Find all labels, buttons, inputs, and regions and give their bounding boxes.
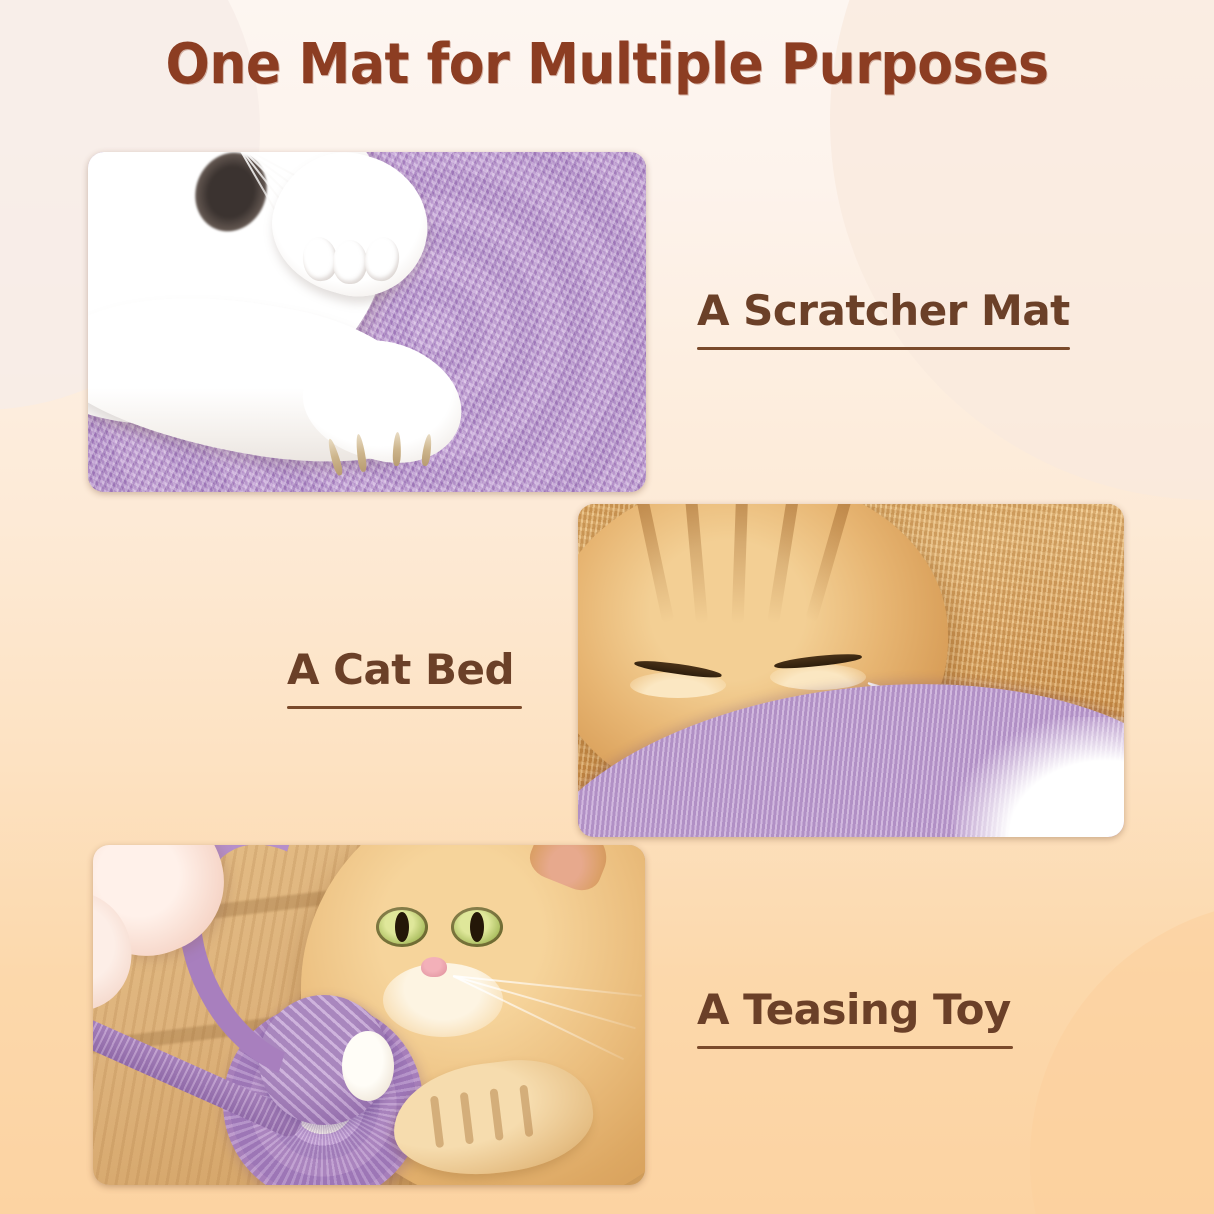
photo-cat-bed-content — [578, 504, 1124, 837]
caption-underline — [697, 347, 1070, 350]
cat-nose-pink — [421, 957, 447, 977]
page-title: One Mat for Multiple Purposes — [42, 32, 1171, 97]
photo-teasing-toy — [93, 845, 645, 1185]
decorative-circle-bottom-right — [1030, 900, 1214, 1214]
caption-cat-bed-label: A Cat Bed — [287, 645, 514, 694]
cat-eye-right — [451, 907, 503, 947]
cat-toes-upper — [303, 237, 413, 285]
product-feature-infographic: One Mat for Multiple Purposes — [0, 0, 1214, 1214]
cat-whiskers — [453, 975, 645, 1045]
photo-teasing-toy-content — [93, 845, 645, 1185]
caption-cat-bed: A Cat Bed — [287, 645, 522, 709]
mat-highlight — [954, 717, 1124, 837]
photo-scratcher-mat-content — [88, 152, 646, 492]
cat-forehead-stripes — [618, 504, 878, 664]
caption-scratcher-mat: A Scratcher Mat — [697, 286, 1070, 350]
caption-underline — [697, 1046, 1013, 1049]
photo-scratcher-mat — [88, 152, 646, 492]
caption-teasing-toy-label: A Teasing Toy — [697, 985, 1011, 1034]
caption-underline — [287, 706, 522, 709]
photo-cat-bed — [578, 504, 1124, 837]
caption-teasing-toy: A Teasing Toy — [697, 985, 1013, 1049]
caption-scratcher-mat-label: A Scratcher Mat — [697, 286, 1070, 335]
cat-claws — [331, 432, 461, 492]
